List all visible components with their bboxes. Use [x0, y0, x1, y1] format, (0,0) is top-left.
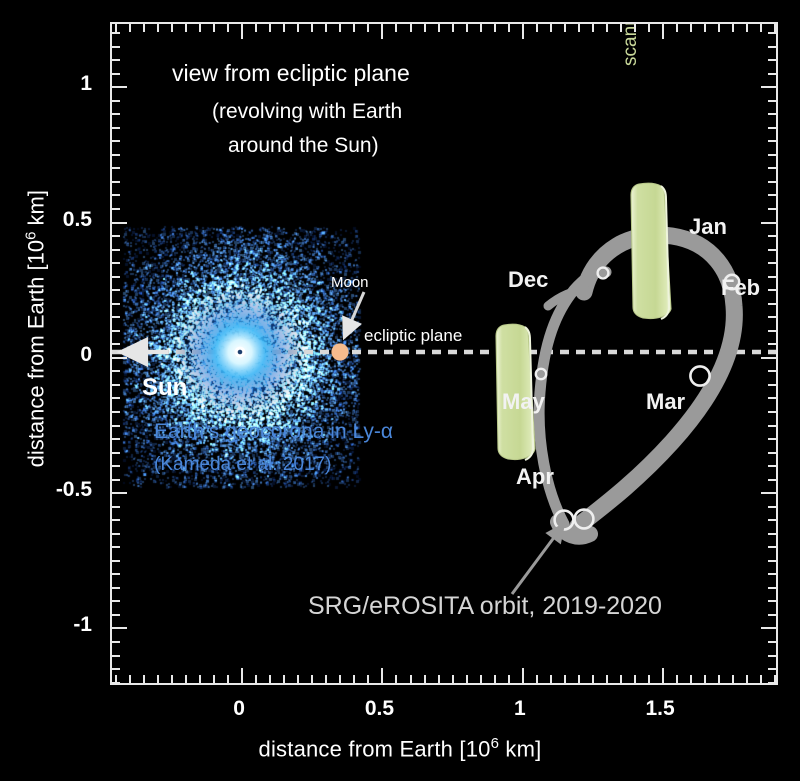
x-axis-title-exponent: 6 — [491, 735, 500, 752]
y-tick-right — [768, 533, 776, 535]
month-label-mar: Mar — [646, 389, 685, 415]
x-tick-top — [395, 24, 397, 32]
x-tick-top — [241, 24, 243, 39]
x-tick-top — [578, 24, 580, 32]
x-tick-bottom — [690, 675, 692, 683]
y-tick-left — [112, 276, 120, 278]
month-label-jan: Jan — [689, 214, 727, 240]
x-tick-top — [381, 24, 383, 39]
y-tick-left — [112, 167, 120, 169]
y-tick-left — [112, 384, 120, 386]
y-tick-left — [112, 194, 120, 196]
orbit-node-mar — [690, 366, 709, 385]
y-tick-right — [768, 113, 776, 115]
x-tick-bottom — [718, 675, 720, 683]
x-tick-bottom — [550, 675, 552, 683]
y-tick-left — [112, 46, 120, 48]
x-tick-bottom — [381, 668, 383, 683]
x-tick-top — [718, 24, 720, 32]
y-tick-right — [768, 573, 776, 575]
x-tick-bottom — [704, 675, 706, 683]
scanning-direction-label: scanning direction — [620, 22, 642, 66]
x-tick-top — [227, 24, 229, 32]
x-tick-bottom — [480, 675, 482, 683]
y-tick-right — [768, 262, 776, 264]
y-tick-right — [768, 655, 776, 657]
x-tick-bottom — [634, 675, 636, 683]
y-tick-left — [112, 587, 120, 589]
x-tick-top — [648, 24, 650, 32]
x-tick-bottom — [760, 675, 762, 683]
y-axis-title-tail: km] — [24, 190, 49, 232]
x-tick-bottom — [648, 675, 650, 683]
y-tick-left — [112, 59, 120, 61]
x-tick-bottom — [522, 668, 524, 683]
y-tick-left — [112, 222, 127, 224]
x-tick-bottom — [129, 675, 131, 683]
ecliptic-plane-label: ecliptic plane — [364, 326, 462, 346]
x-tick-top — [592, 24, 594, 32]
y-tick-left — [112, 573, 120, 575]
title-line-1: view from ecliptic plane — [172, 60, 410, 87]
month-label-apr: Apr — [516, 464, 554, 490]
x-tick-bottom — [311, 675, 313, 683]
y-tick-right — [768, 208, 776, 210]
y-tick-right — [768, 289, 776, 291]
y-tick-left — [112, 86, 127, 88]
x-tick-top — [494, 24, 496, 32]
x-tick-label: 1.5 — [646, 697, 675, 721]
x-tick-bottom — [213, 675, 215, 683]
y-tick-left — [112, 668, 120, 670]
y-tick-right — [768, 682, 776, 684]
y-tick-left — [112, 154, 120, 156]
x-tick-bottom — [620, 675, 622, 683]
x-tick-top — [171, 24, 173, 32]
y-tick-left — [112, 100, 120, 102]
x-tick-top — [732, 24, 734, 32]
y-tick-right — [768, 167, 776, 169]
y-tick-left — [112, 181, 120, 183]
x-tick-top — [325, 24, 327, 32]
y-tick-left — [112, 452, 120, 454]
y-tick-right — [761, 222, 776, 224]
y-axis-title-main: distance from Earth [10 — [24, 240, 49, 467]
x-tick-top — [115, 24, 117, 32]
y-tick-right — [768, 249, 776, 251]
x-tick-top — [255, 24, 257, 32]
y-tick-right — [768, 46, 776, 48]
x-tick-top — [550, 24, 552, 32]
geocorona-reference: (Kameda et al. 2017) — [154, 454, 331, 476]
y-tick-right — [761, 357, 776, 359]
x-tick-bottom — [185, 675, 187, 683]
x-tick-bottom — [269, 675, 271, 683]
y-tick-right — [768, 506, 776, 508]
y-tick-right — [761, 492, 776, 494]
y-tick-right — [768, 100, 776, 102]
x-tick-bottom — [424, 675, 426, 683]
x-tick-top — [662, 24, 664, 39]
y-axis-title-exponent: 6 — [22, 232, 39, 240]
y-tick-right — [768, 384, 776, 386]
y-tick-left — [112, 479, 120, 481]
x-tick-top — [466, 24, 468, 32]
x-tick-bottom — [283, 675, 285, 683]
y-tick-left — [112, 289, 120, 291]
y-tick-left — [112, 262, 120, 264]
x-tick-top — [339, 24, 341, 32]
x-tick-top — [367, 24, 369, 32]
y-tick-left — [112, 357, 127, 359]
x-tick-bottom — [494, 675, 496, 683]
sun-label: Sun — [142, 374, 187, 402]
geocorona-label: Earth‘s geocorona in Ly-α — [154, 420, 393, 444]
y-tick-left — [112, 303, 120, 305]
y-tick-left — [112, 492, 127, 494]
y-tick-left — [112, 397, 120, 399]
x-tick-bottom — [325, 675, 327, 683]
y-tick-right — [768, 668, 776, 670]
x-tick-top — [283, 24, 285, 32]
moon-marker — [331, 343, 348, 360]
x-tick-top — [704, 24, 706, 32]
x-tick-bottom — [508, 675, 510, 683]
y-tick-right — [768, 154, 776, 156]
x-tick-top — [129, 24, 131, 32]
x-tick-top — [213, 24, 215, 32]
y-tick-left — [112, 519, 120, 521]
y-tick-right — [768, 411, 776, 413]
x-tick-bottom — [536, 675, 538, 683]
y-tick-left — [112, 32, 120, 34]
x-tick-top — [746, 24, 748, 32]
y-tick-left — [112, 546, 120, 548]
y-tick-right — [768, 600, 776, 602]
x-tick-top — [620, 24, 622, 32]
y-tick-right — [768, 560, 776, 562]
y-tick-right — [768, 127, 776, 129]
y-tick-left — [112, 627, 127, 629]
x-tick-top — [143, 24, 145, 32]
y-axis-title: distance from Earth [106 km] — [22, 79, 49, 579]
y-tick-right — [768, 343, 776, 345]
y-tick-left — [112, 614, 120, 616]
x-tick-top — [353, 24, 355, 32]
y-tick-right — [768, 316, 776, 318]
x-tick-label: 0.5 — [365, 697, 394, 721]
moon-pointer-arrow — [344, 292, 364, 338]
y-tick-left — [112, 641, 120, 643]
y-tick-left — [112, 465, 120, 467]
moon-label: Moon — [331, 274, 369, 291]
x-tick-top — [452, 24, 454, 32]
title-line-3: around the Sun) — [228, 134, 379, 158]
x-tick-bottom — [143, 675, 145, 683]
x-tick-top — [438, 24, 440, 32]
x-tick-bottom — [171, 675, 173, 683]
x-tick-bottom — [466, 675, 468, 683]
x-tick-top — [480, 24, 482, 32]
y-tick-left — [112, 249, 120, 251]
x-tick-bottom — [255, 675, 257, 683]
orbit-caption-arrow — [512, 524, 564, 594]
y-tick-right — [768, 425, 776, 427]
y-tick-right — [768, 276, 776, 278]
y-tick-left — [112, 73, 120, 75]
y-tick-right — [768, 397, 776, 399]
figure-root: 10.50-0.5-1 00.511.5 distance from Earth… — [0, 0, 800, 781]
x-axis-title-tail: km] — [499, 736, 541, 761]
scanning-plane-upper — [631, 183, 671, 319]
y-tick-left — [112, 438, 120, 440]
title-line-2: (revolving with Earth — [212, 100, 402, 124]
x-tick-bottom — [410, 675, 412, 683]
y-tick-left — [112, 425, 120, 427]
x-tick-top — [199, 24, 201, 32]
x-tick-top — [760, 24, 762, 32]
earth-marker-inner — [238, 350, 243, 355]
y-tick-left — [112, 560, 120, 562]
x-tick-bottom — [367, 675, 369, 683]
month-label-feb: Feb — [721, 275, 760, 301]
x-tick-top — [774, 24, 776, 32]
x-tick-bottom — [395, 675, 397, 683]
x-tick-bottom — [592, 675, 594, 683]
y-tick-right — [768, 140, 776, 142]
x-tick-bottom — [353, 675, 355, 683]
x-tick-top — [269, 24, 271, 32]
x-tick-bottom — [241, 668, 243, 683]
y-tick-label: -1 — [0, 613, 92, 637]
x-tick-top — [606, 24, 608, 32]
x-tick-top — [157, 24, 159, 32]
x-tick-top — [508, 24, 510, 32]
month-label-dec: Dec — [508, 267, 548, 293]
y-tick-right — [768, 235, 776, 237]
x-tick-bottom — [438, 675, 440, 683]
x-tick-bottom — [578, 675, 580, 683]
x-tick-bottom — [452, 675, 454, 683]
y-tick-left — [112, 208, 120, 210]
x-tick-top — [564, 24, 566, 32]
y-tick-right — [768, 32, 776, 34]
x-tick-bottom — [732, 675, 734, 683]
y-tick-left — [112, 533, 120, 535]
x-tick-bottom — [297, 675, 299, 683]
x-tick-top — [522, 24, 524, 39]
y-tick-right — [768, 465, 776, 467]
y-tick-left — [112, 411, 120, 413]
y-tick-left — [112, 655, 120, 657]
x-axis-title-main: distance from Earth [10 — [259, 736, 491, 761]
x-tick-top — [676, 24, 678, 32]
y-tick-left — [112, 343, 120, 345]
x-tick-top — [311, 24, 313, 32]
x-tick-top — [536, 24, 538, 32]
y-tick-left — [112, 600, 120, 602]
x-tick-bottom — [676, 675, 678, 683]
y-tick-right — [768, 546, 776, 548]
x-tick-label: 0 — [233, 697, 245, 721]
y-tick-left — [112, 235, 120, 237]
x-tick-bottom — [199, 675, 201, 683]
orbit-caption: SRG/eROSITA orbit, 2019-2020 — [308, 592, 662, 621]
x-tick-label: 1 — [514, 697, 526, 721]
y-tick-right — [768, 59, 776, 61]
y-tick-right — [761, 627, 776, 629]
x-tick-top — [185, 24, 187, 32]
x-tick-bottom — [227, 675, 229, 683]
y-tick-left — [112, 140, 120, 142]
x-tick-bottom — [339, 675, 341, 683]
y-tick-left — [112, 316, 120, 318]
y-tick-right — [768, 587, 776, 589]
y-tick-right — [768, 641, 776, 643]
y-tick-right — [768, 519, 776, 521]
y-tick-right — [768, 438, 776, 440]
y-tick-left — [112, 506, 120, 508]
y-tick-right — [768, 614, 776, 616]
y-tick-left — [112, 370, 120, 372]
x-tick-bottom — [157, 675, 159, 683]
x-tick-top — [410, 24, 412, 32]
x-tick-top — [690, 24, 692, 32]
y-tick-right — [761, 86, 776, 88]
y-tick-right — [768, 303, 776, 305]
y-tick-left — [112, 127, 120, 129]
month-label-may: May — [502, 389, 545, 415]
x-tick-bottom — [606, 675, 608, 683]
x-tick-bottom — [564, 675, 566, 683]
x-tick-bottom — [746, 675, 748, 683]
scanning-direction-line-1: scanning — [620, 22, 642, 66]
y-tick-right — [768, 330, 776, 332]
y-tick-right — [768, 370, 776, 372]
y-tick-left — [112, 113, 120, 115]
y-tick-right — [768, 181, 776, 183]
x-tick-top — [634, 24, 636, 32]
plot-frame: view from ecliptic plane (revolving with… — [110, 22, 778, 685]
y-tick-right — [768, 452, 776, 454]
y-tick-right — [768, 73, 776, 75]
y-tick-right — [768, 194, 776, 196]
y-tick-right — [768, 479, 776, 481]
y-tick-left — [112, 682, 120, 684]
x-tick-bottom — [662, 668, 664, 683]
x-tick-top — [424, 24, 426, 32]
x-axis-title: distance from Earth [106 km] — [0, 735, 800, 762]
y-tick-left — [112, 330, 120, 332]
x-tick-top — [297, 24, 299, 32]
